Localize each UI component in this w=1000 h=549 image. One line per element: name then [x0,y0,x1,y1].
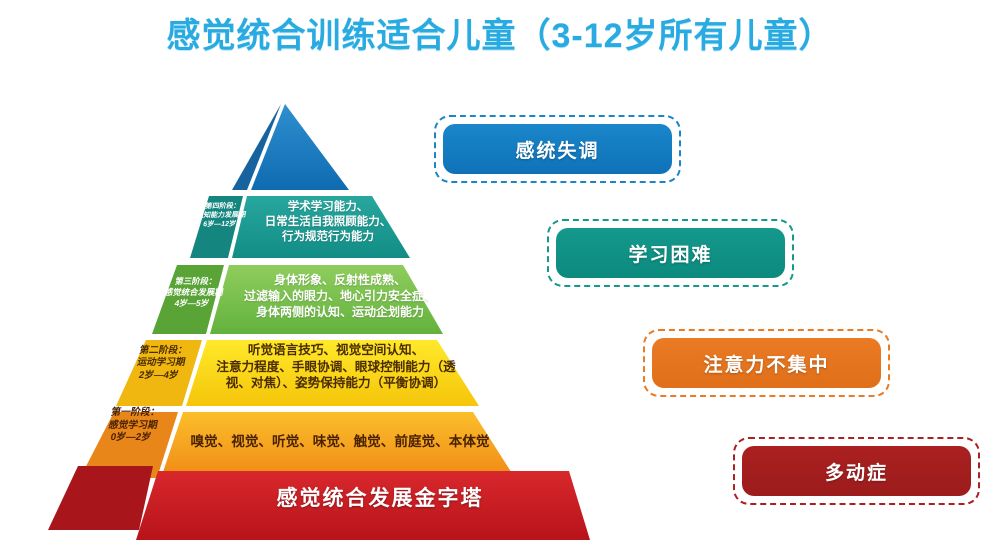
callout-sensory-integration-disorder[interactable]: 感统失调 [443,124,672,174]
callout-learning-difficulty[interactable]: 学习困难 [556,228,785,278]
callout-label-2: 学习困难 [628,240,712,267]
callout-label-4: 多动症 [825,458,888,485]
callout-label-1: 感统失调 [515,136,599,163]
callout-hyperactivity[interactable]: 多动症 [742,446,971,496]
slide-canvas: 感觉统合训练适合儿童（3-12岁所有儿童） [0,0,1000,549]
sensory-integration-pyramid: 学术学习能力、 日常生活自我照顾能力、 行为规范行为能力 第四阶段： 认知能力发… [0,0,620,549]
pyramid-shapes [0,0,620,549]
callout-label-3: 注意力不集中 [703,350,829,377]
callout-inattention[interactable]: 注意力不集中 [652,338,881,388]
